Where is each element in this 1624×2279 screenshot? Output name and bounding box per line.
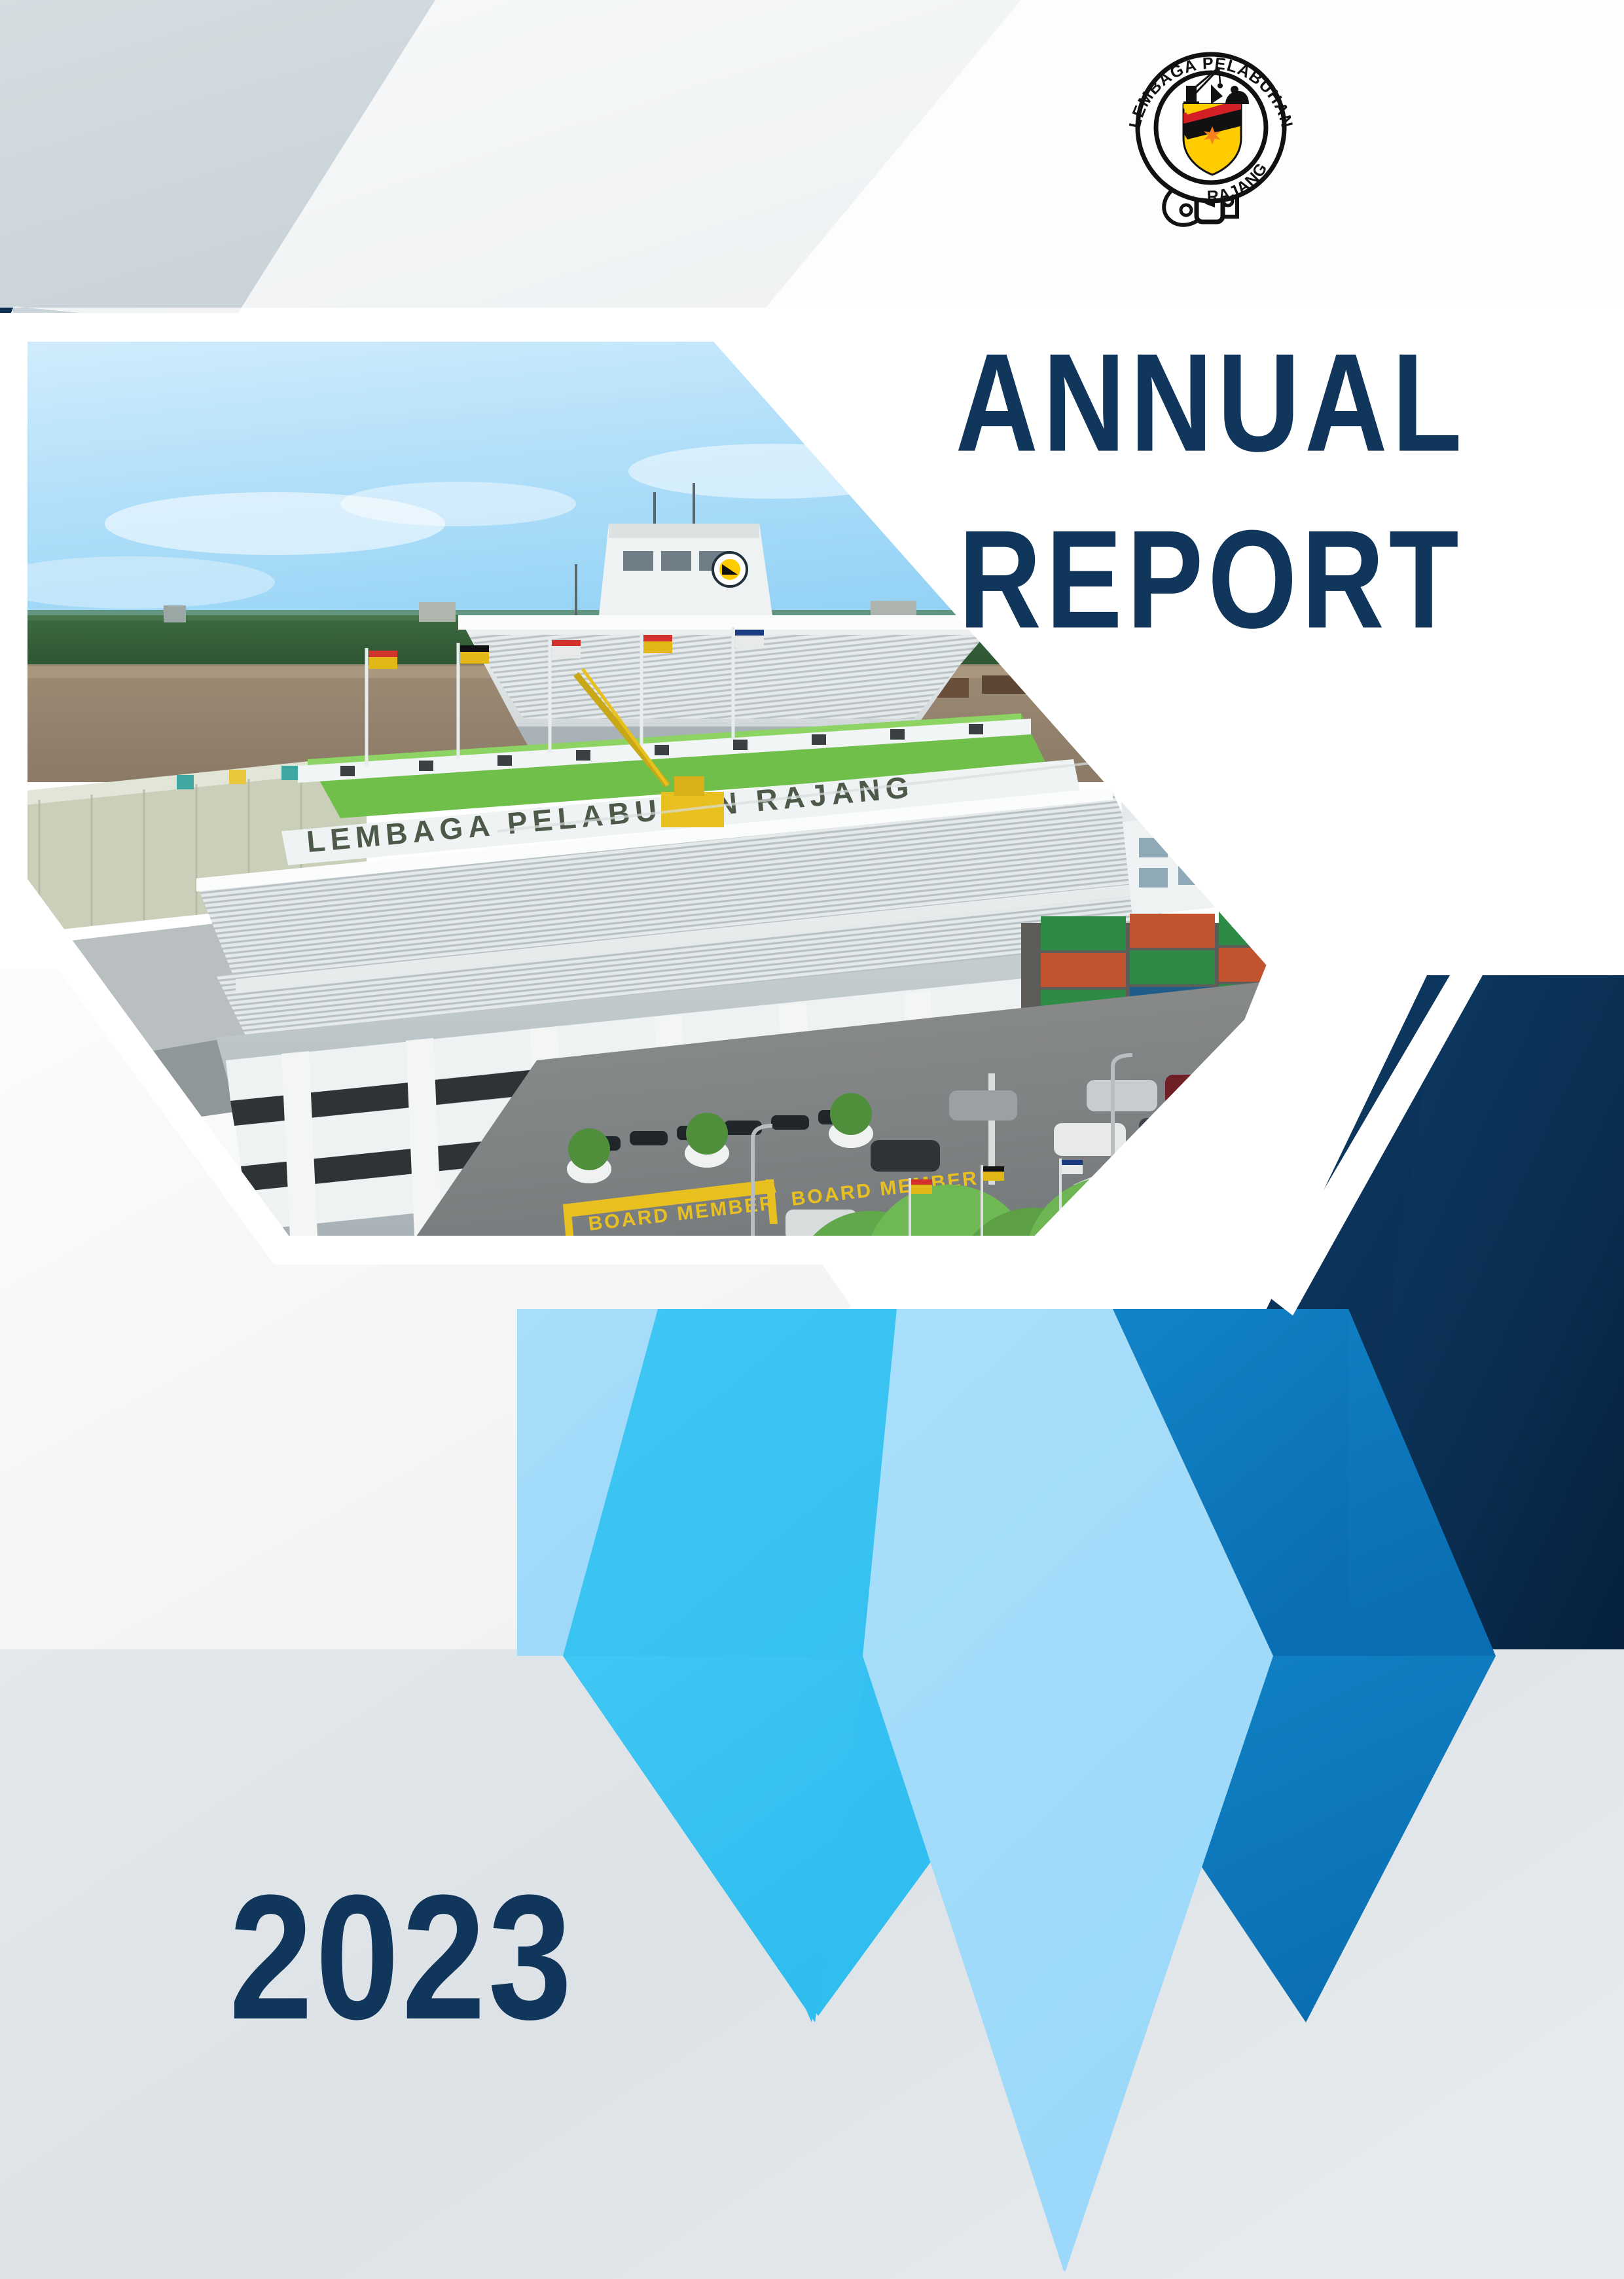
cover-photo-frame: LEMBAGA PELABUHAN RAJANG [0,308,1447,1309]
annual-report-cover-page: LEMBAGA PELABUHAN RAJANG [0,0,1624,2279]
rajang-port-building-photo: LEMBAGA PELABUHAN RAJANG [0,308,1447,1309]
container-truck [1237,1080,1401,1121]
organisation-logo: LEMBAGA PELABUHAN RAJANG [1113,36,1309,245]
logo-svg: LEMBAGA PELABUHAN RAJANG [1113,36,1309,245]
container-label-text: SIN YANG [1250,1091,1358,1111]
